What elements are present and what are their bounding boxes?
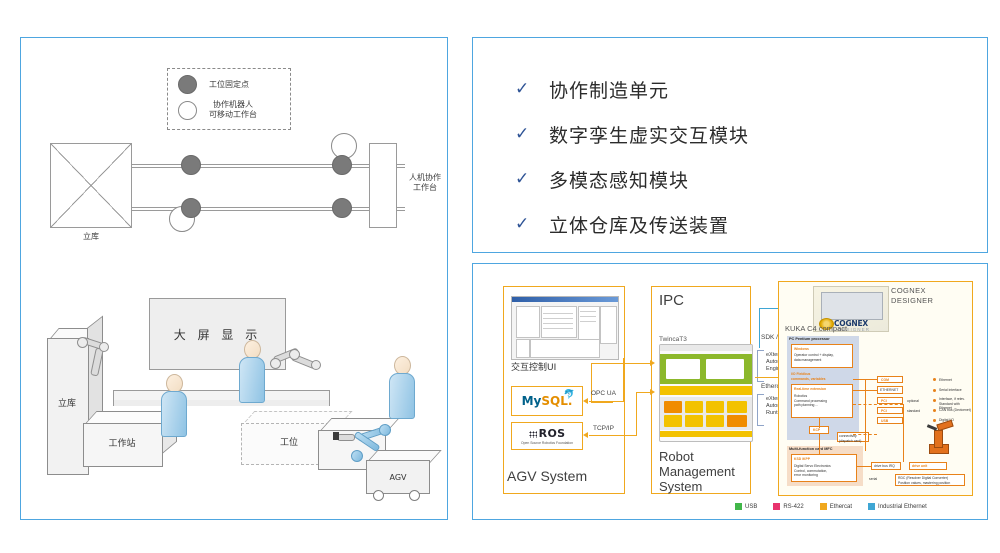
legend-row-mobile-bench: 协作机器人 可移动工作台 [178,100,257,120]
kuka-line-v2 [819,418,820,428]
layout-diagrams-panel: 工位固定点 协作机器人 可移动工作台 立库 [20,37,448,520]
port-usb-label: USB [881,419,888,424]
collab-bench-label: 人机协作 工作台 [401,173,449,194]
legend-item-rs422: RS-422 [773,503,803,510]
rdc-label: RDC (Resolver Digital Converter) Positio… [898,476,950,485]
checklist-label-1: 协作制造单元 [549,76,669,103]
interactive-control-ui-label: 交互控制UI [511,360,556,373]
collab-bench-shape [369,143,397,228]
checklist-item-4[interactable]: ✓ 立体仓库及传送装置 [515,203,967,245]
twincat-screenshot [659,344,753,442]
agv-label: AGV [389,473,406,482]
checklist-label-2: 数字孪生虚实交互模块 [549,121,749,148]
wire-ipc-to-mysql-h [589,401,624,402]
mysql-logo-box: 🐬 MySQL. [511,386,583,416]
mfc-header: Multi-function card MFC [789,447,832,452]
legend-label-usb: USB [745,504,757,510]
check-icon: ✓ [515,171,549,188]
schematic-legend: 工位固定点 协作机器人 可移动工作台 [167,68,291,130]
rack-label: 立库 [47,396,87,409]
kuka-dash-2 [853,434,877,435]
dolphin-icon: 🐬 [564,389,575,400]
legend-label-fixed-point: 工位固定点 [209,80,249,90]
filled-circle-icon [178,75,197,94]
serial-label: serial [869,477,877,482]
storage-label: 立库 [50,231,132,242]
bench-label-line2: 工作台 [413,183,437,192]
robot-management-system-label: Robot Management System [659,450,751,495]
ksd-kpp-title: KSD /KPP [794,457,810,462]
worker-body [389,373,415,419]
ethercat-color-swatch [820,503,827,510]
legend-item-ethercat: Ethercat [820,503,852,510]
port-pci-2-label: PCI [881,409,887,414]
arrow-ipc-feed [650,389,655,395]
architecture-diagram: AGV System 交互控制UI 🐬 [473,264,989,521]
open-circle-icon [178,101,197,120]
check-icon: ✓ [515,216,549,233]
agv-wheel-right [409,490,420,501]
worker-body [239,357,265,403]
ros-logo-box: ROS Open Source Robotics Foundation [511,422,583,450]
worker-body [161,391,187,437]
agv-system-label: AGV System [507,468,587,484]
realtime-title: Real-time extension [794,387,826,392]
ui-titlebar [512,297,618,302]
ros-logo-text: ROS [529,427,566,440]
port-right-4: CAN bus (Devicenet) [939,408,971,413]
feature-checklist: ✓ 协作制造单元 ✓ 数字孪生虚实交互模块 ✓ 多模态感知模块 ✓ 立体仓库及传… [515,68,967,248]
agv-body: AGV [366,460,430,494]
fixed-point-node-1 [181,155,201,175]
worker-figure-3 [389,356,415,419]
rail-top-b [132,167,405,168]
bench-label-line1: 人机协作 [409,173,441,182]
agv-wheel-left [373,490,384,501]
realtime-body: Robotics Command processing path plannin… [794,394,827,408]
port-dot-1 [933,378,936,381]
rail-top-a [132,164,405,165]
port-dot-4 [933,409,936,412]
connection-type-legend: USB RS-422 Ethercat Industrial Ethernet [735,503,927,510]
opcua-label: OPC UA [591,390,616,397]
fixed-point-node-3 [332,155,352,175]
port-tag-optional: optional [907,399,919,404]
windows-body: Operator control + display, data managem… [794,353,834,362]
fixed-point-node-2 [181,198,201,218]
kuka-robot-icon [925,420,951,454]
kuka-line-h3 [857,466,871,467]
kuka-line-v4 [903,404,904,462]
industrial-ethernet-color-swatch [868,503,875,510]
port-dot-3 [933,399,936,402]
cell-layout-schematic: 工位固定点 协作机器人 可移动工作台 立库 [21,38,449,278]
kuka-c4-label: KUKA C4 compact [785,324,847,333]
checklist-label-3: 多模态感知模块 [549,166,689,193]
interactive-control-ui-screenshot [511,296,619,360]
workshop-isometric-scene: 立库 大 屏 显 示 工作站 工位 [21,278,449,521]
drive-unit-label: drive unit [912,464,927,469]
wire-ipc-to-ros-h [589,435,637,436]
cognex-screen-area [821,292,883,320]
big-display-screen: 大 屏 显 示 [149,298,286,370]
ros-sublabel: Open Source Robotics Foundation [521,441,573,445]
check-icon: ✓ [515,81,549,98]
connectivity-label: connectivity (dispatch card) [839,434,861,443]
arrow-ui-to-ipc [650,360,655,366]
worker-figure-1 [161,374,187,437]
legend-label-line2: 可移动工作台 [209,110,257,119]
worker-figure-2 [239,340,265,403]
workstation-label: 工作站 [83,436,161,449]
checklist-label-4: 立体仓库及传送装置 [549,211,729,238]
port-ethernet-label: ETHERNET [880,388,898,393]
feature-checklist-panel: ✓ 协作制造单元 ✓ 数字孪生虚实交互模块 ✓ 多模态感知模块 ✓ 立体仓库及传… [472,37,988,253]
port-pci-1-label: PCI [881,399,887,404]
checklist-item-2[interactable]: ✓ 数字孪生虚实交互模块 [515,113,967,155]
port-com-label: COM [881,378,889,383]
legend-row-fixed-point: 工位固定点 [178,75,249,94]
wire-cognex-v [759,308,760,348]
rs422-color-swatch [773,503,780,510]
port-dot-2 [933,389,936,392]
kcp-label: KCP [813,428,820,433]
usb-color-swatch [735,503,742,510]
conveyor-front [113,400,330,406]
cognex-designer-label: COGNEX DESIGNER [891,286,933,306]
io-fieldbus-text: I/O Fieldbus commands, variables [791,372,826,381]
legend-label-industrial-ethernet: Industrial Ethernet [878,504,927,510]
kuka-internal-diagram: PC Pentium processor Windows Operator co… [785,334,971,489]
legend-label-ethercat: Ethercat [830,504,852,510]
checklist-item-3[interactable]: ✓ 多模态感知模块 [515,158,967,200]
wire-ipc-to-mysql-v [623,358,624,402]
cognex-line1: COGNEX [891,286,926,295]
xar-bracket [757,394,764,426]
storage-box-shape [50,143,132,228]
windows-title: Windows [794,347,809,352]
ros-dots-icon [529,431,537,438]
ros-label: ROS [539,427,566,440]
wire-ui-to-ipc-h [591,363,651,364]
legend-item-usb: USB [735,503,757,510]
legend-label-line1: 协作机器人 [213,100,253,109]
cognex-line2: DESIGNER [891,296,933,305]
port-right-2: Serial interface [939,388,962,393]
twincat-label: TwincaT3 [659,336,687,343]
mysql-my-text: My [522,394,542,408]
wire-ipc-to-ros-v [636,392,637,436]
checklist-item-1[interactable]: ✓ 协作制造单元 [515,68,967,110]
legend-item-industrial-ethernet: Industrial Ethernet [868,503,927,510]
kuka-dash-1 [853,404,903,405]
ipc-label: IPC [659,292,684,309]
pc-processor-header: PC Pentium processor [789,337,830,342]
fixed-point-node-4 [332,198,352,218]
arrow-to-ros [583,432,588,438]
kuka-line-v1 [865,379,866,451]
drive-bus-label: drive bus IRQ [874,464,895,469]
system-architecture-panel: AGV System 交互控制UI 🐬 [472,263,988,520]
wire-ui-to-ipc-v [591,363,592,403]
port-right-1: Ethernet [939,378,952,383]
slide-canvas: 工位固定点 协作机器人 可移动工作台 立库 [0,0,1000,553]
kuka-line-v3 [819,434,820,454]
tcpip-label: TCP/IP [593,425,614,432]
ksd-kpp-body: Digital Servo Electronics Control, commu… [794,464,831,478]
port-tag-standard: standard [907,409,920,414]
arrow-to-mysql [583,398,588,404]
legend-label-rs422: RS-422 [783,504,803,510]
legend-label-mobile-bench: 协作机器人 可移动工作台 [209,100,257,120]
check-icon: ✓ [515,126,549,143]
